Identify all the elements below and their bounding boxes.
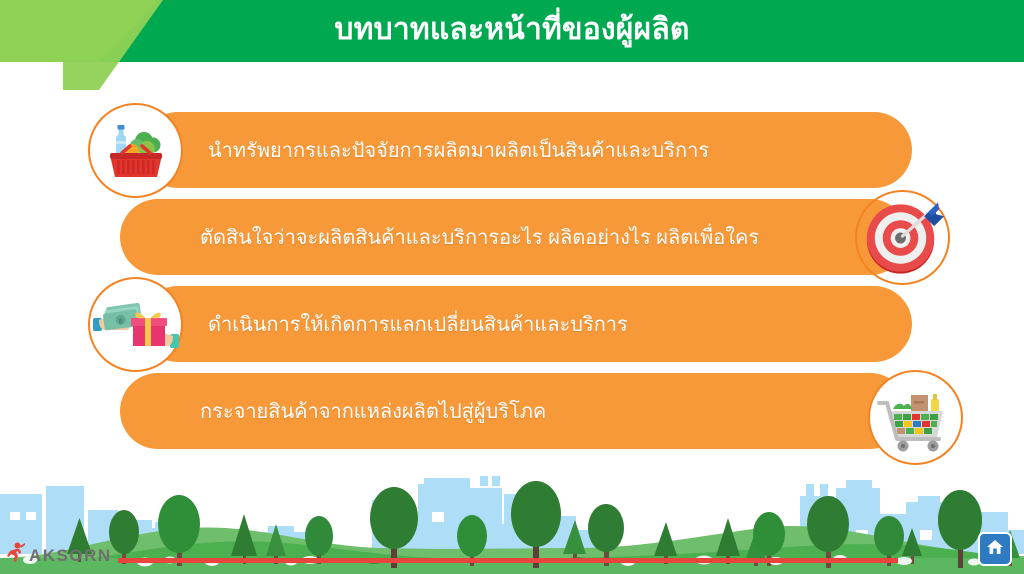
- target-dartboard-icon: [855, 190, 950, 285]
- bullet-bar-3[interactable]: ดำเนินการให้เกิดการแลกเปลี่ยนสินค้าและบร…: [140, 286, 912, 362]
- bullet-text-3: ดำเนินการให้เกิดการแลกเปลี่ยนสินค้าและบร…: [208, 308, 628, 340]
- bullet-text-2: ตัดสินใจว่าจะผลิตสินค้าและบริการอะไร ผลิ…: [200, 221, 759, 253]
- bullet-text-4: กระจายสินค้าจากแหล่งผลิตไปสู่ผู้บริโภค: [200, 395, 546, 427]
- bullet-bar-4[interactable]: กระจายสินค้าจากแหล่งผลิตไปสู่ผู้บริโภค: [120, 373, 908, 449]
- shopping-basket-icon: [88, 103, 183, 198]
- bullet-text-1: นำทรัพยากรและปัจจัยการผลิตมาผลิตเป็นสินค…: [208, 134, 709, 166]
- footer-landscape-scene: [0, 454, 1024, 574]
- bullet-bar-list: นำทรัพยากรและปัจจัยการผลิตมาผลิตเป็นสินค…: [0, 0, 1024, 470]
- home-button[interactable]: [978, 532, 1012, 566]
- aksorn-logo-text: AKSORN: [29, 546, 112, 566]
- home-icon: [986, 538, 1004, 561]
- running-figure-icon: [6, 542, 26, 569]
- shopping-cart-icon: [868, 370, 963, 465]
- slide-canvas: บทบาทและหน้าที่ของผู้ผลิต นำทรัพยากรและป…: [0, 0, 1024, 574]
- aksorn-logo: AKSORN: [6, 542, 112, 569]
- bullet-bar-2[interactable]: ตัดสินใจว่าจะผลิตสินค้าและบริการอะไร ผลิ…: [120, 199, 908, 275]
- footer-rule: [118, 558, 898, 563]
- bullet-bar-1[interactable]: นำทรัพยากรและปัจจัยการผลิตมาผลิตเป็นสินค…: [140, 112, 912, 188]
- money-gift-exchange-icon: ฿: [88, 277, 183, 372]
- page-title: บทบาทและหน้าที่ของผู้ผลิต: [0, 8, 1024, 52]
